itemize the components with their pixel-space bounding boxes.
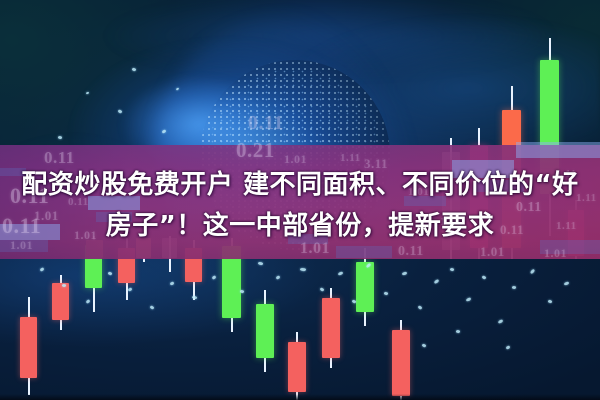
particle-speck [132,67,137,71]
particle-speck [86,92,89,95]
headline-text: 配资炒股免费开户 建不同面积、不同价位的“好 房子”！这一中部省份，提新要求 [0,165,600,247]
stock-news-banner-image: 0.110.110.111.011.011.010.110.210.111.01… [0,0,600,400]
particle-speck [118,109,123,114]
particle-speck [58,136,63,140]
headline-line-2: 房子”！这一中部省份，提新要求 [14,206,586,247]
bottom-edge-shadow [0,394,600,400]
chart-floor-glow [0,259,600,400]
headline-line-1: 配资炒股免费开户 建不同面积、不同价位的“好 [14,165,586,206]
